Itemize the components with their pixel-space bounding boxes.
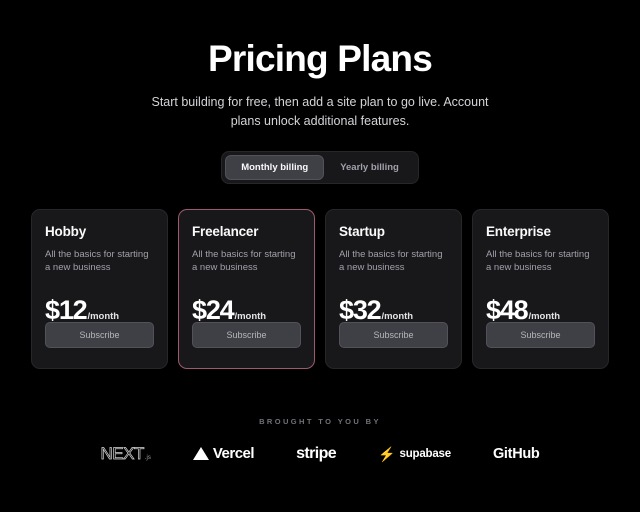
triangle-icon (193, 447, 209, 460)
plan-period: /month (381, 311, 413, 322)
pricing-card-enterprise[interactable]: Enterprise All the basics for starting a… (472, 209, 609, 369)
plan-description: All the basics for starting a new busine… (45, 248, 154, 276)
supabase-logo: ⚡ supabase (378, 447, 451, 461)
nextjs-suffix: .js (145, 455, 151, 461)
toggle-yearly-billing[interactable]: Yearly billing (324, 155, 415, 180)
vercel-wordmark: Vercel (213, 445, 254, 462)
plan-period: /month (528, 311, 560, 322)
github-logo: GitHub (493, 446, 540, 462)
pricing-card-hobby[interactable]: Hobby All the basics for starting a new … (31, 209, 168, 369)
plan-description: All the basics for starting a new busine… (192, 248, 301, 276)
plan-name: Hobby (45, 224, 154, 239)
supabase-wordmark: supabase (400, 448, 451, 460)
plan-name: Freelancer (192, 224, 301, 239)
footer: BROUGHT TO YOU BY NEXT .js Vercel stripe… (0, 417, 640, 464)
stripe-wordmark: stripe (296, 445, 336, 463)
page-subtitle: Start building for free, then add a site… (140, 93, 500, 132)
toggle-monthly-billing[interactable]: Monthly billing (225, 155, 324, 180)
partner-logo-row: NEXT .js Vercel stripe ⚡ supabase GitHub (0, 444, 640, 464)
pricing-card-startup[interactable]: Startup All the basics for starting a ne… (325, 209, 462, 369)
plan-period: /month (87, 311, 119, 322)
plan-name: Startup (339, 224, 448, 239)
nextjs-wordmark: NEXT (101, 444, 144, 464)
subscribe-button[interactable]: Subscribe (192, 322, 301, 348)
plan-period: /month (234, 311, 266, 322)
pricing-card-freelancer[interactable]: Freelancer All the basics for starting a… (178, 209, 315, 369)
billing-toggle-wrapper: Monthly billing Yearly billing (0, 151, 640, 184)
plan-description: All the basics for starting a new busine… (486, 248, 595, 276)
plan-name: Enterprise (486, 224, 595, 239)
vercel-logo: Vercel (193, 445, 254, 462)
subscribe-button[interactable]: Subscribe (45, 322, 154, 348)
stripe-logo: stripe (296, 445, 336, 463)
footer-label: BROUGHT TO YOU BY (0, 417, 640, 426)
subscribe-button[interactable]: Subscribe (339, 322, 448, 348)
page-title: Pricing Plans (0, 40, 640, 79)
billing-toggle[interactable]: Monthly billing Yearly billing (221, 151, 419, 184)
pricing-card-list: Hobby All the basics for starting a new … (0, 209, 640, 369)
bolt-icon: ⚡ (378, 447, 395, 461)
pricing-page: Pricing Plans Start building for free, t… (0, 0, 640, 512)
plan-description: All the basics for starting a new busine… (339, 248, 448, 276)
page-header: Pricing Plans Start building for free, t… (0, 0, 640, 132)
github-wordmark: GitHub (493, 446, 540, 462)
nextjs-logo: NEXT .js (101, 444, 151, 464)
subscribe-button[interactable]: Subscribe (486, 322, 595, 348)
